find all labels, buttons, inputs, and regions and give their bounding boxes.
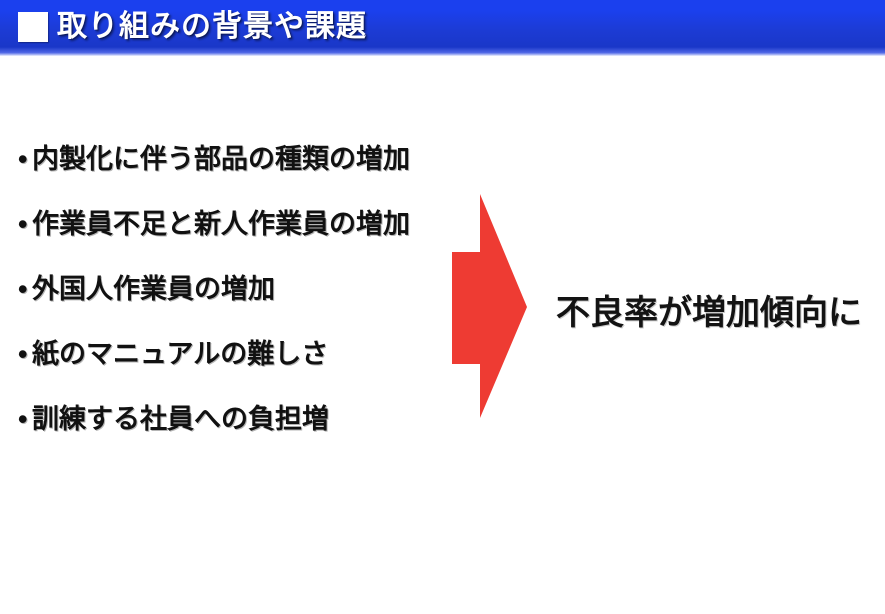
- page-title: 取り組みの背景や課題: [57, 4, 367, 50]
- list-item: •訓練する社員への負担増: [18, 398, 438, 440]
- conclusion-text: 不良率が増加傾向に: [556, 285, 862, 334]
- list-item: •作業員不足と新人作業員の増加: [18, 203, 438, 245]
- list-item: •内製化に伴う部品の種類の増加: [18, 138, 438, 180]
- right-block-arrow-icon: [452, 194, 530, 418]
- bullet-dot-icon: •: [18, 203, 32, 245]
- list-item-label: 訓練する社員への負担増: [32, 404, 329, 434]
- arrow-container: [452, 194, 530, 418]
- slide-canvas: 取り組みの背景や課題 •内製化に伴う部品の種類の増加 •作業員不足と新人作業員の…: [0, 0, 885, 614]
- bullet-dot-icon: •: [18, 333, 32, 375]
- list-item-label: 内製化に伴う部品の種類の増加: [32, 144, 410, 174]
- list-item: •外国人作業員の増加: [18, 268, 438, 310]
- bullet-dot-icon: •: [18, 398, 32, 440]
- bullet-dot-icon: •: [18, 268, 32, 310]
- header-square-icon: [18, 12, 48, 42]
- list-item-label: 紙のマニュアルの難しさ: [32, 339, 328, 369]
- list-item-label: 外国人作業員の増加: [32, 274, 275, 304]
- issue-bullet-list: •内製化に伴う部品の種類の増加 •作業員不足と新人作業員の増加 •外国人作業員の…: [18, 138, 438, 463]
- list-item: •紙のマニュアルの難しさ: [18, 333, 438, 375]
- bullet-dot-icon: •: [18, 138, 32, 180]
- list-item-label: 作業員不足と新人作業員の増加: [32, 209, 410, 239]
- slide-header-band: 取り組みの背景や課題: [0, 0, 885, 56]
